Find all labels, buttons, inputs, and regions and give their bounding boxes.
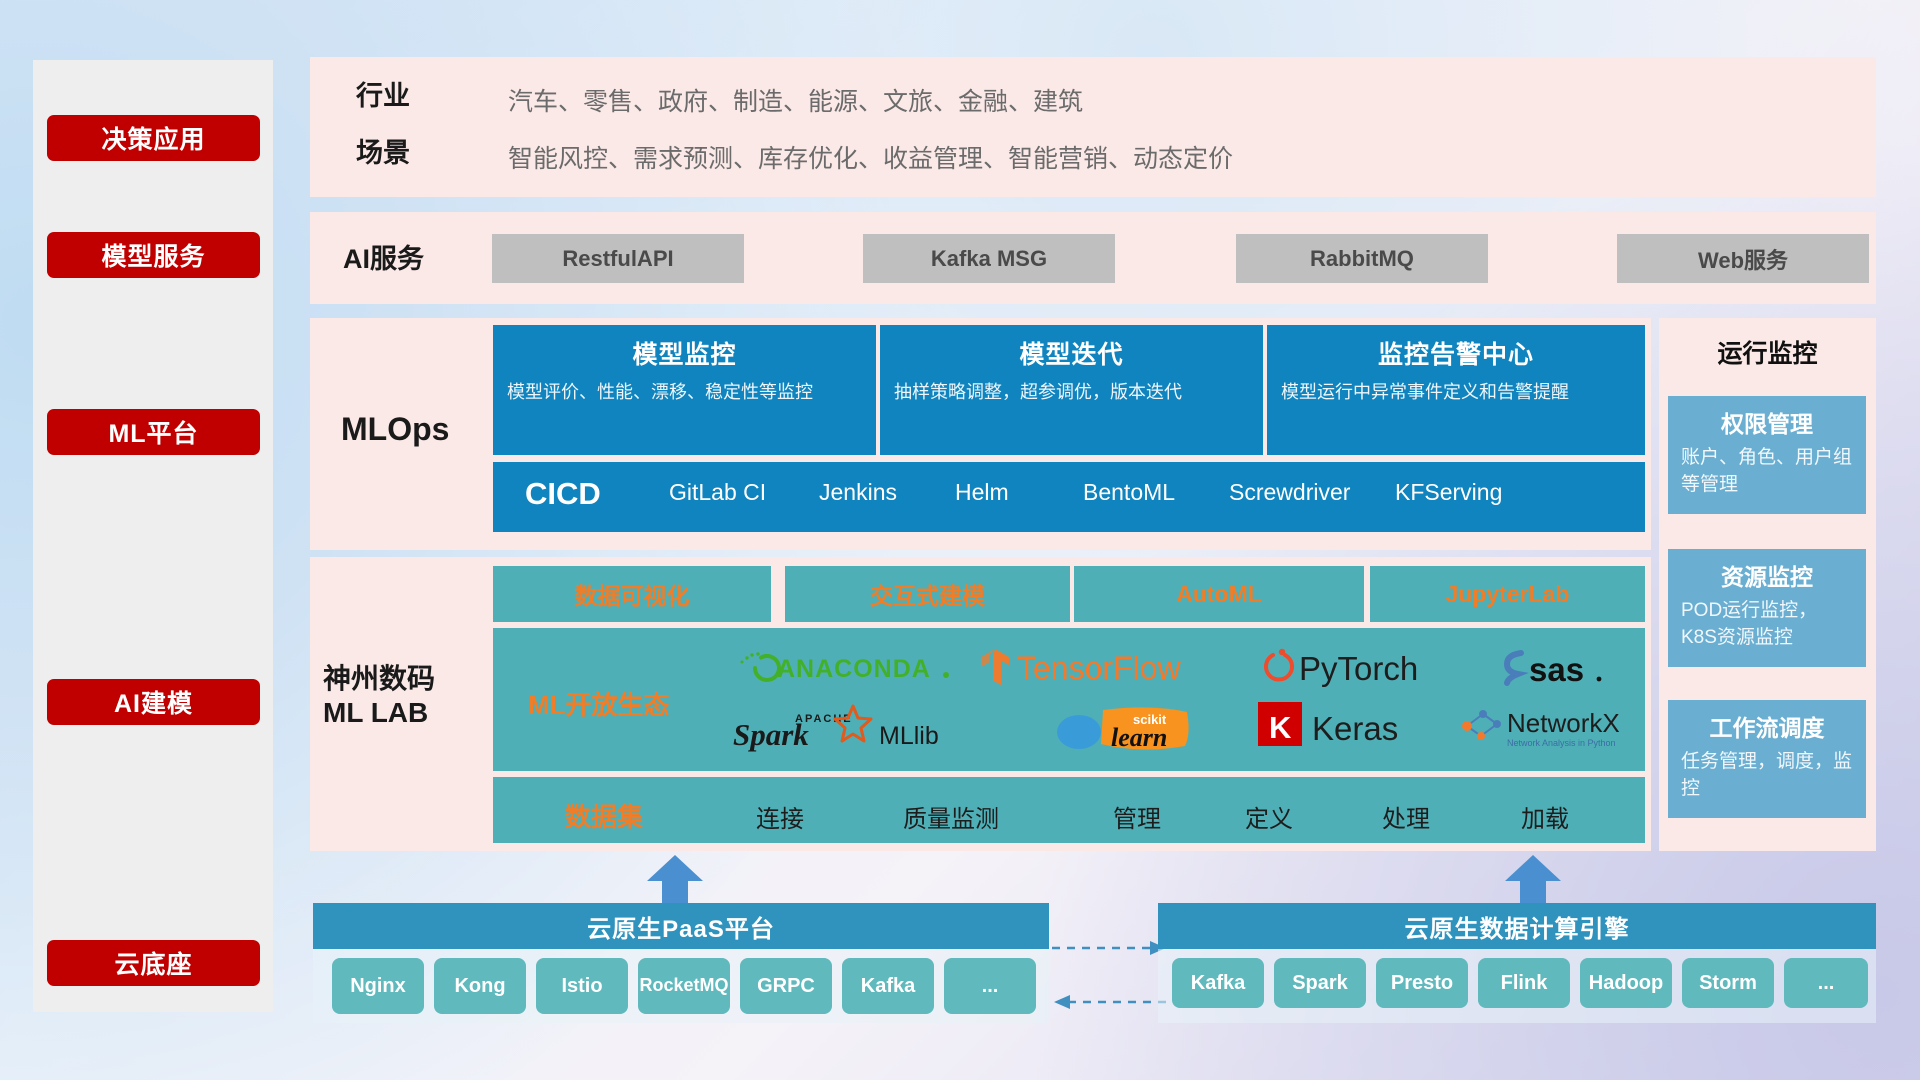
- industry-label: 行业: [356, 80, 410, 113]
- rail-badge-ml-platform[interactable]: ML平台: [47, 409, 260, 455]
- dataset-item-management[interactable]: 管理: [1113, 799, 1161, 834]
- svg-text:Spark: Spark: [733, 717, 809, 752]
- cicd-label: CICD: [525, 476, 601, 512]
- dataset-item-quality-monitoring[interactable]: 质量监测: [903, 799, 999, 834]
- cicd-item-helm[interactable]: Helm: [955, 478, 1073, 507]
- card-title: 模型迭代: [880, 325, 1263, 371]
- logo-tensorflow: TensorFlow: [975, 645, 1225, 689]
- paas-chip-nginx[interactable]: Nginx: [332, 958, 424, 1014]
- monitor-box-permission[interactable]: 权限管理 账户、角色、用户组等管理: [1668, 396, 1866, 514]
- rail-badge-ai-modeling[interactable]: AI建模: [47, 679, 260, 725]
- dataset-item-connect[interactable]: 连接: [756, 799, 804, 834]
- card-desc: 抽样策略调整，超参调优，版本迭代: [880, 371, 1263, 405]
- dataset-item-loading[interactable]: 加载: [1521, 799, 1569, 834]
- engine-chip-hadoop[interactable]: Hadoop: [1580, 958, 1672, 1008]
- logo-pytorch: PyTorch: [1255, 645, 1465, 689]
- modeling-chip-data-visualization[interactable]: 数据可视化: [493, 566, 771, 622]
- runtime-monitor-title: 运行监控: [1659, 334, 1876, 370]
- cicd-item-kfserving[interactable]: KFServing: [1395, 478, 1513, 507]
- rail-badge-decision[interactable]: 决策应用: [47, 115, 260, 161]
- logo-anaconda: ANACONDA: [725, 648, 955, 688]
- svg-text:Network Analysis in Python: Network Analysis in Python: [1507, 738, 1616, 748]
- svg-text:K: K: [1269, 710, 1292, 745]
- cicd-item-jenkins[interactable]: Jenkins: [819, 478, 937, 507]
- svg-text:PyTorch: PyTorch: [1299, 650, 1418, 687]
- dataset-row: [493, 777, 1645, 843]
- arrow-up-data-engine: [1503, 855, 1563, 907]
- scenario-value: 智能风控、需求预测、库存优化、收益管理、智能营销、动态定价: [508, 139, 1233, 175]
- paas-header: 云原生PaaS平台: [313, 903, 1049, 949]
- engine-chip-presto[interactable]: Presto: [1376, 958, 1468, 1008]
- scenario-label: 场景: [356, 137, 410, 170]
- monitor-box-desc: POD运行监控，K8S资源监控: [1668, 592, 1866, 651]
- svg-text:sas: sas: [1529, 651, 1584, 688]
- ai-service-chip-rabbitmq[interactable]: RabbitMQ: [1236, 234, 1488, 283]
- architecture-diagram: 决策应用 模型服务 ML平台 AI建模 云底座 行业 汽车、零售、政府、制造、能…: [0, 0, 1920, 1080]
- rail-badge-cloud-base[interactable]: 云底座: [47, 940, 260, 986]
- logo-spark-mllib: APACHE Spark MLlib: [733, 700, 963, 752]
- modeling-chip-automl[interactable]: AutoML: [1074, 566, 1364, 622]
- dataset-item-definition[interactable]: 定义: [1245, 799, 1293, 834]
- mlops-card-model-monitoring[interactable]: 模型监控 模型评价、性能、漂移、稳定性等监控: [493, 325, 876, 455]
- paas-chip-istio[interactable]: Istio: [536, 958, 628, 1014]
- arrow-up-paas: [645, 855, 705, 907]
- data-engine-header: 云原生数据计算引擎: [1158, 903, 1876, 949]
- card-desc: 模型评价、性能、漂移、稳定性等监控: [493, 371, 876, 405]
- svg-text:NetworkX: NetworkX: [1507, 708, 1620, 738]
- arrow-dashed-bidirectional: [1052, 940, 1172, 1020]
- paas-chip-grpc[interactable]: GRPC: [740, 958, 832, 1014]
- svg-text:MLlib: MLlib: [879, 722, 939, 750]
- cicd-item-gitlab-ci[interactable]: GitLab CI: [669, 478, 787, 507]
- logo-sas: sas: [1495, 645, 1655, 689]
- logo-networkx: NetworkX Network Analysis in Python: [1457, 700, 1657, 755]
- logo-keras: K Keras: [1258, 700, 1458, 752]
- mlops-card-alert-center[interactable]: 监控告警中心 模型运行中异常事件定义和告警提醒: [1267, 325, 1645, 455]
- cicd-bar: CICD GitLab CI Jenkins Helm BentoML Scre…: [493, 462, 1645, 532]
- paas-chip-more[interactable]: ...: [944, 958, 1036, 1014]
- svg-text:ANACONDA: ANACONDA: [777, 655, 931, 683]
- ml-lab-label-line1: 神州数码: [323, 662, 435, 696]
- ai-service-chip-restfulapi[interactable]: RestfulAPI: [492, 234, 744, 283]
- monitor-box-title: 工作流调度: [1668, 700, 1866, 743]
- ml-open-ecosystem-label: ML开放生态: [528, 685, 670, 722]
- dataset-label: 数据集: [565, 797, 643, 834]
- industry-value: 汽车、零售、政府、制造、能源、文旅、金融、建筑: [508, 82, 1083, 118]
- mlops-card-model-iteration[interactable]: 模型迭代 抽样策略调整，超参调优，版本迭代: [880, 325, 1263, 455]
- monitor-box-workflow[interactable]: 工作流调度 任务管理，调度，监控: [1668, 700, 1866, 818]
- engine-chip-spark[interactable]: Spark: [1274, 958, 1366, 1008]
- decision-band: [310, 57, 1876, 197]
- cicd-item-bentoml[interactable]: BentoML: [1083, 478, 1201, 507]
- modeling-chip-interactive-modeling[interactable]: 交互式建模: [785, 566, 1070, 622]
- paas-chip-rocketmq[interactable]: RocketMQ: [638, 958, 730, 1014]
- engine-chip-kafka[interactable]: Kafka: [1172, 958, 1264, 1008]
- ml-lab-label: 神州数码 ML LAB: [323, 662, 435, 730]
- monitor-box-resource[interactable]: 资源监控 POD运行监控，K8S资源监控: [1668, 549, 1866, 667]
- modeling-chip-jupyterlab[interactable]: JupyterLab: [1370, 566, 1645, 622]
- ml-lab-label-line2: ML LAB: [323, 696, 435, 730]
- monitor-box-desc: 账户、角色、用户组等管理: [1668, 439, 1866, 498]
- ai-service-label: AI服务: [343, 243, 424, 276]
- card-desc: 模型运行中异常事件定义和告警提醒: [1267, 371, 1645, 405]
- engine-chip-flink[interactable]: Flink: [1478, 958, 1570, 1008]
- paas-chip-kafka[interactable]: Kafka: [842, 958, 934, 1014]
- svg-text:learn: learn: [1111, 723, 1167, 752]
- dataset-item-processing[interactable]: 处理: [1382, 799, 1430, 834]
- svg-text:Keras: Keras: [1312, 710, 1398, 747]
- monitor-box-title: 权限管理: [1668, 396, 1866, 439]
- paas-chip-kong[interactable]: Kong: [434, 958, 526, 1014]
- engine-chip-storm[interactable]: Storm: [1682, 958, 1774, 1008]
- monitor-box-desc: 任务管理，调度，监控: [1668, 743, 1866, 802]
- logo-scikit-learn: scikit learn: [1055, 700, 1245, 755]
- ai-service-chip-kafka-msg[interactable]: Kafka MSG: [863, 234, 1115, 283]
- rail-badge-model-service[interactable]: 模型服务: [47, 232, 260, 278]
- svg-text:TensorFlow: TensorFlow: [1017, 650, 1182, 686]
- card-title: 模型监控: [493, 325, 876, 371]
- mlops-label: MLOps: [341, 410, 449, 449]
- ai-service-chip-web-service[interactable]: Web服务: [1617, 234, 1869, 283]
- card-title: 监控告警中心: [1267, 325, 1645, 371]
- monitor-box-title: 资源监控: [1668, 549, 1866, 592]
- cicd-item-screwdriver[interactable]: Screwdriver: [1229, 478, 1347, 507]
- engine-chip-more[interactable]: ...: [1784, 958, 1868, 1008]
- layer-rail: [33, 60, 273, 1012]
